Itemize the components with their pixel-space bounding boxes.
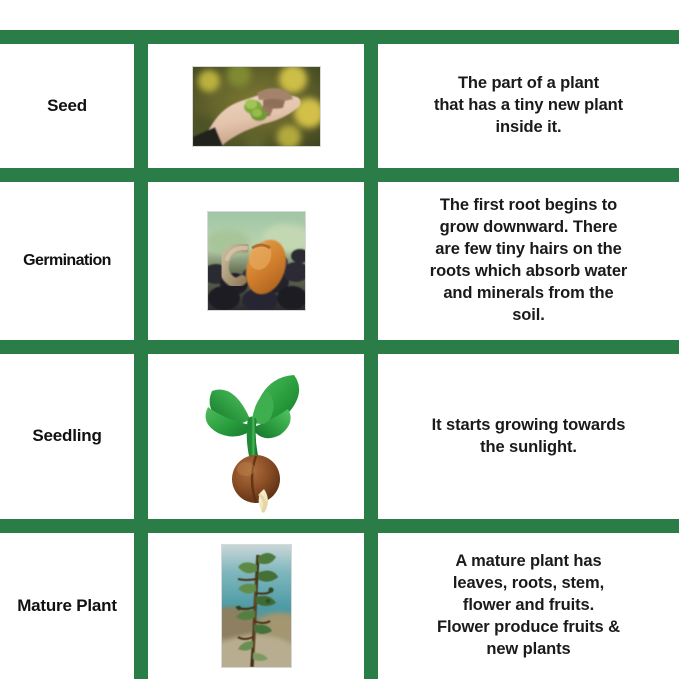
mature-plant-photo <box>221 544 292 668</box>
stage-label: Germination <box>23 250 111 271</box>
description-text: The first root begins to grow downward. … <box>430 195 627 327</box>
description-cell-germination: The first root begins to grow downward. … <box>378 182 679 340</box>
column-gap <box>364 44 378 168</box>
grid-divider-horizontal-top <box>0 30 679 44</box>
column-gap <box>134 44 148 168</box>
stage-cell-germination: Germination <box>0 182 134 340</box>
image-cell-seed <box>148 44 364 168</box>
stage-label: Seed <box>47 95 87 117</box>
description-cell-seedling: It starts growing towards the sunlight. <box>378 354 679 519</box>
column-gap <box>364 354 378 519</box>
image-cell-seedling <box>148 354 364 519</box>
table-row: Germination <box>0 182 679 340</box>
hand-holding-seeds-photo <box>192 66 321 147</box>
image-cell-germination <box>148 182 364 340</box>
grid-divider-horizontal-2 <box>0 340 679 354</box>
grid-divider-horizontal-1 <box>0 168 679 182</box>
stage-cell-seed: Seed <box>0 44 134 168</box>
column-gap <box>364 533 378 679</box>
stage-cell-seedling: Seedling <box>0 354 134 519</box>
plant-life-cycle-table: Seed <box>0 0 679 679</box>
description-text: The part of a plant that has a tiny new … <box>434 73 623 139</box>
seedling-illustration <box>190 361 322 513</box>
column-gap <box>134 533 148 679</box>
column-gap <box>134 182 148 340</box>
germinating-seed-photo <box>207 211 306 311</box>
description-cell-mature-plant: A mature plant has leaves, roots, stem, … <box>378 533 679 679</box>
grid-divider-horizontal-3 <box>0 519 679 533</box>
description-text: A mature plant has leaves, roots, stem, … <box>437 551 620 661</box>
image-cell-mature-plant <box>148 533 364 679</box>
column-gap <box>364 182 378 340</box>
description-cell-seed: The part of a plant that has a tiny new … <box>378 44 679 168</box>
stage-label: Seedling <box>32 425 101 447</box>
stage-cell-mature-plant: Mature Plant <box>0 533 134 679</box>
table-row: Mature Plant <box>0 533 679 679</box>
description-text: It starts growing towards the sunlight. <box>432 415 626 459</box>
table-row: Seed <box>0 44 679 168</box>
column-gap <box>134 354 148 519</box>
stage-label: Mature Plant <box>17 595 117 617</box>
table-row: Seedling <box>0 354 679 519</box>
